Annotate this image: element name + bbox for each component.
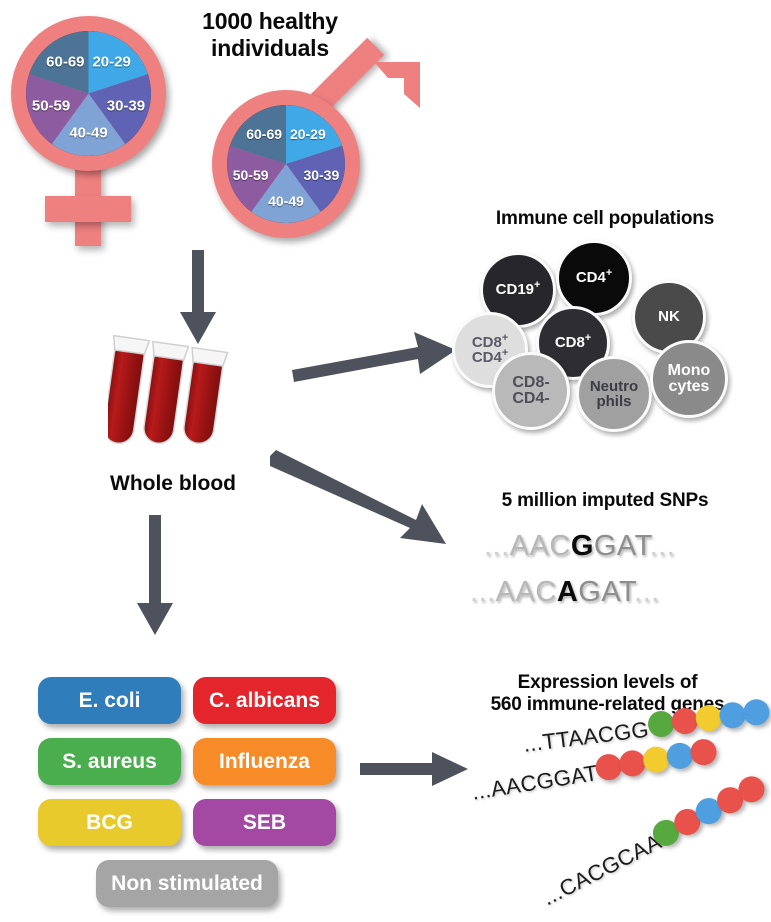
strand-sequence: ...CACGCAA: [538, 829, 666, 911]
arrow-blood-to-snps: [268, 450, 448, 550]
stimulation-influenza[interactable]: Influenza: [193, 738, 336, 785]
immune-cell-label: CD8+CD4+: [472, 335, 508, 366]
snp-suffix-ellipsis: ...: [634, 576, 660, 608]
snp-variant-allele: G: [571, 530, 594, 562]
expression-bead: [689, 737, 719, 767]
whole-blood-tubes: [108, 332, 238, 457]
pie-label-20-29: 20-29: [92, 53, 130, 70]
snp-prefix-ellipsis: ...: [470, 576, 496, 608]
snp-flank-left: AAC: [510, 530, 571, 562]
stimulation-label: C. albicans: [209, 689, 320, 713]
expression-bead: [742, 698, 771, 727]
immune-cell-label: CD8+: [555, 335, 591, 350]
stimulation-label: E. coli: [79, 689, 141, 713]
snp-sequences: ...AACGGAT......AACAGAT...: [470, 530, 760, 620]
immune-cell-monocytes: Monocytes: [650, 340, 728, 418]
immune-cell-label: Neutrophils: [590, 379, 638, 410]
section-title-snps: 5 million imputed SNPs: [450, 490, 760, 512]
cohort-title-line1: 1000 healthy: [170, 8, 370, 35]
stimulation-label: S. aureus: [62, 750, 157, 774]
cohort-title-line2: individuals: [170, 35, 370, 62]
pie-label-50-59: 50-59: [32, 97, 70, 114]
stimulation-e-coli[interactable]: E. coli: [38, 677, 181, 724]
stimulation-label: SEB: [243, 811, 286, 835]
study-design-diagram: 1000 healthy individuals 20-2930-3940-49…: [0, 0, 771, 922]
pie-label-40-49: 40-49: [268, 193, 304, 209]
immune-cell-population-bubbles: CD19+CD4+NKCD8+CD4+CD8+CD8-CD4-Neutrophi…: [452, 240, 768, 430]
stimulation-bcg[interactable]: BCG: [38, 799, 181, 846]
stimulation-label: Non stimulated: [111, 872, 263, 896]
female-gender-symbol: 20-2930-3940-4950-5960-69: [8, 14, 188, 254]
pie-label-40-49: 40-49: [69, 124, 107, 141]
pie-label-60-69: 60-69: [246, 126, 282, 142]
pie-label-50-59: 50-59: [233, 167, 269, 183]
female-symbol-cross: [45, 196, 131, 222]
snp-sequence-row: ...AACAGAT...: [470, 576, 660, 609]
label-whole-blood: Whole blood: [78, 472, 268, 496]
snp-variant-allele: A: [557, 576, 578, 608]
stimulation-seb[interactable]: SEB: [193, 799, 336, 846]
snp-sequence-row: ...AACGGAT...: [484, 530, 675, 563]
immune-cell-cd4: CD4+: [556, 240, 632, 316]
immune-cell-label: CD8-CD4-: [512, 375, 549, 408]
page-title-cohort: 1000 healthy individuals: [170, 8, 370, 62]
immune-cell-label: Monocytes: [668, 363, 711, 396]
immune-cell-label: CD4+: [576, 270, 612, 285]
stimulation-non-stimulated[interactable]: Non stimulated: [96, 860, 278, 907]
strand-sequence: ...AACGGAT: [470, 760, 600, 806]
snp-flank-right: GAT: [594, 530, 650, 562]
gene-expression-strands: ...TTAACGG...AACGGAT...CACGCAA: [450, 718, 771, 918]
stimulation-conditions: E. coliC. albicansS. aureusInfluenzaBCGS…: [38, 677, 338, 882]
pie-label-20-29: 20-29: [290, 126, 326, 142]
snp-flank-right: GAT: [578, 576, 634, 608]
male-symbol-arrowhead: [340, 60, 422, 130]
immune-cell-cd8-cd4: CD8-CD4-: [492, 352, 570, 430]
arrow-blood-to-stimulations: [135, 515, 175, 637]
snp-prefix-ellipsis: ...: [484, 530, 510, 562]
snp-flank-left: AAC: [496, 576, 557, 608]
blood-tubes-svg: [108, 332, 238, 457]
pie-label-30-39: 30-39: [107, 97, 145, 114]
arrow-blood-to-immune: [290, 330, 460, 380]
immune-cell-label: CD19+: [496, 282, 541, 297]
stimulation-label: BCG: [86, 811, 133, 835]
stimulation-label: Influenza: [219, 750, 310, 774]
snp-suffix-ellipsis: ...: [650, 530, 676, 562]
stimulation-s-aureus[interactable]: S. aureus: [38, 738, 181, 785]
immune-cell-neutrophils: Neutrophils: [576, 356, 652, 432]
pie-label-60-69: 60-69: [46, 53, 84, 70]
section-title-immune-cells: Immune cell populations: [450, 208, 760, 230]
immune-cell-label: NK: [658, 309, 680, 324]
expression-title-line1: Expression levels of: [455, 672, 760, 694]
stimulation-c-albicans[interactable]: C. albicans: [193, 677, 336, 724]
male-gender-symbol: 20-2930-3940-4950-5960-69: [212, 60, 422, 250]
pie-label-30-39: 30-39: [303, 167, 339, 183]
